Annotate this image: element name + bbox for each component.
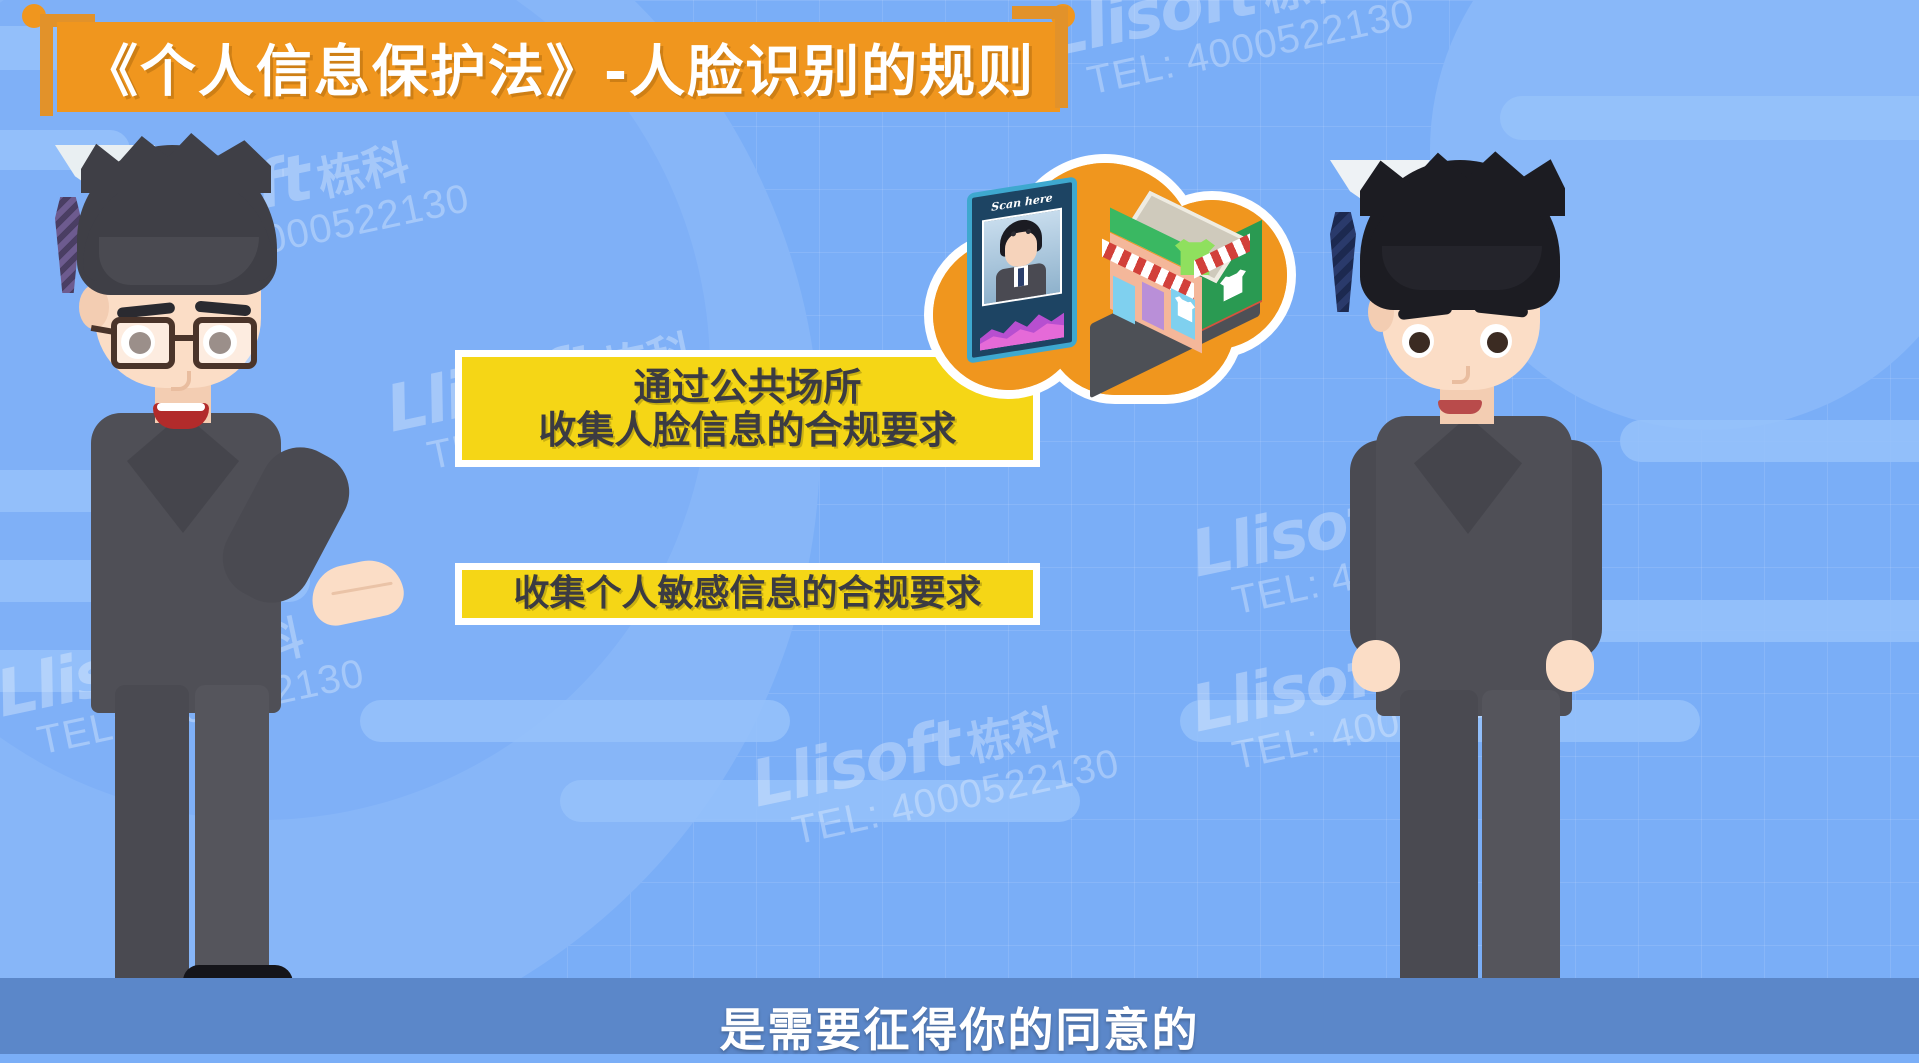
right-hand-left — [1352, 640, 1400, 692]
glasses-bridge — [173, 335, 197, 341]
callout-sensitive-info-compliance[interactable]: 收集个人敏感信息的合规要求 — [455, 563, 1040, 625]
right-necktie — [1330, 212, 1356, 312]
clothing-store-building — [1080, 195, 1270, 360]
right-trouser — [1400, 690, 1478, 1020]
cloud-illustration: Scan here — [905, 145, 1310, 405]
right-hand-right — [1546, 640, 1594, 692]
glasses-icon — [103, 315, 263, 373]
right-hair-fringe — [1382, 246, 1542, 290]
face-scan-tablet: Scan here — [967, 176, 1077, 363]
background-pill — [1500, 96, 1919, 140]
banner-bracket-right-top — [1012, 6, 1068, 19]
right-pupil — [1409, 332, 1430, 353]
scanned-face-photo — [982, 208, 1062, 307]
character-presenter-left — [55, 145, 375, 1005]
background-pill — [360, 700, 790, 742]
callout-line-1: 收集个人敏感信息的合规要求 — [513, 574, 981, 614]
photo-tie — [1018, 268, 1024, 287]
page-title: 《个人信息保护法》-人脸识别的规则 — [57, 22, 1060, 112]
right-mouth — [1438, 400, 1482, 414]
left-trouser — [115, 685, 189, 1015]
character-listener-right — [1330, 160, 1660, 1010]
subtitle-text: 是需要征得你的同意的 — [0, 994, 1919, 1060]
callout-line-1: 通过公共场所 — [633, 366, 861, 409]
title-banner: 《个人信息保护法》-人脸识别的规则 — [57, 22, 1060, 112]
background-pill — [1620, 420, 1919, 462]
right-pupil — [1487, 332, 1508, 353]
left-hair-fringe — [99, 237, 259, 285]
glasses-lens-left — [111, 317, 175, 369]
right-trouser — [1482, 690, 1560, 1020]
video-frame: Llisoft栋科 TEL: 4000522130 Llisoft栋科 TEL:… — [0, 0, 1919, 1063]
glasses-lens-right — [193, 317, 257, 369]
banner-bracket-left — [40, 14, 53, 116]
background-pill — [560, 780, 1080, 822]
photo-face — [1005, 230, 1037, 269]
banner-bracket-right — [1055, 6, 1068, 108]
callout-line-2: 收集人脸信息的合规要求 — [538, 409, 956, 452]
